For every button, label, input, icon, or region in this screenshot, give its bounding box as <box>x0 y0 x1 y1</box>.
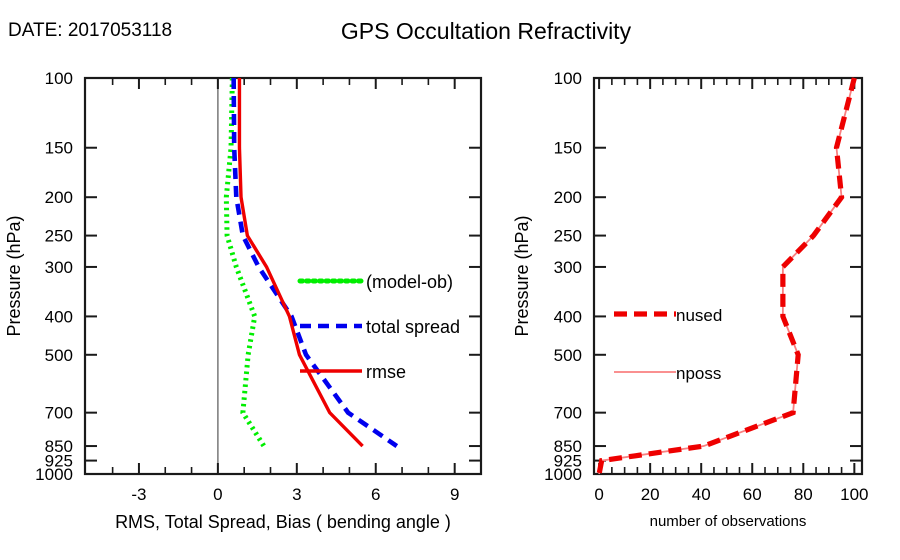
right-y-tick-label: 100 <box>554 69 582 88</box>
right-x-tick-label: 20 <box>641 485 660 504</box>
left-legend-label: total spread <box>366 317 460 337</box>
right-y-tick-label: 1000 <box>544 465 582 484</box>
left-y-tick-label: 400 <box>45 307 73 326</box>
left-y-tick-label: 700 <box>45 404 73 423</box>
left-y-tick-label: 1000 <box>35 465 73 484</box>
left-x-tick-label: -3 <box>131 485 146 504</box>
right-y-tick-label: 700 <box>554 404 582 423</box>
left-y-tick-label: 500 <box>45 346 73 365</box>
right-y-tick-label: 200 <box>554 188 582 207</box>
right-legend-label: nposs <box>676 364 721 383</box>
left-x-tick-label: 6 <box>371 485 380 504</box>
right-legend-label: nused <box>676 306 722 325</box>
right-x-axis: 020406080100 <box>594 78 868 504</box>
right-x-tick-label: 80 <box>794 485 813 504</box>
figure-root: DATE: 2017053118 GPS Occultation Refract… <box>0 0 900 560</box>
right-x-tick-label: 60 <box>743 485 762 504</box>
right-y-tick-label: 300 <box>554 258 582 277</box>
right-x-axis-title: number of observations <box>650 513 807 530</box>
left-curve-total-spread <box>234 78 397 446</box>
right-plot-frame <box>594 78 862 474</box>
right-y-tick-label: 250 <box>554 227 582 246</box>
left-x-tick-label: 3 <box>292 485 301 504</box>
right-x-tick-label: 100 <box>840 485 868 504</box>
left-y-tick-label: 200 <box>45 188 73 207</box>
right-y-axis: 1001502002503004005007008509251000 <box>544 69 862 484</box>
left-legend: (model-ob)total spreadrmse <box>300 272 460 382</box>
left-x-axis-title: RMS, Total Spread, Bias ( bending angle … <box>115 512 451 532</box>
left-y-tick-label: 150 <box>45 139 73 158</box>
right-y-axis-title: Pressure (hPa) <box>512 215 532 336</box>
left-panel: 1001502002503004005007008509251000-30369… <box>4 69 481 532</box>
right-y-tick-label: 500 <box>554 346 582 365</box>
right-y-tick-label: 400 <box>554 307 582 326</box>
right-legend: nusednposs <box>614 306 722 383</box>
right-panel: 1001502002503004005007008509251000020406… <box>512 69 869 530</box>
right-y-tick-label: 150 <box>554 139 582 158</box>
left-legend-label: (model-ob) <box>366 272 453 292</box>
right-x-tick-label: 0 <box>594 485 603 504</box>
left-x-tick-label: 0 <box>213 485 222 504</box>
left-legend-label: rmse <box>366 362 406 382</box>
plot-canvas: 1001502002503004005007008509251000-30369… <box>0 0 900 560</box>
left-x-tick-label: 9 <box>450 485 459 504</box>
left-y-axis-title: Pressure (hPa) <box>4 215 24 336</box>
left-y-tick-label: 300 <box>45 258 73 277</box>
right-x-tick-label: 40 <box>692 485 711 504</box>
left-y-tick-label: 100 <box>45 69 73 88</box>
left-y-tick-label: 250 <box>45 227 73 246</box>
right-curve-nposs <box>599 78 854 474</box>
right-curve-nused <box>599 78 854 474</box>
